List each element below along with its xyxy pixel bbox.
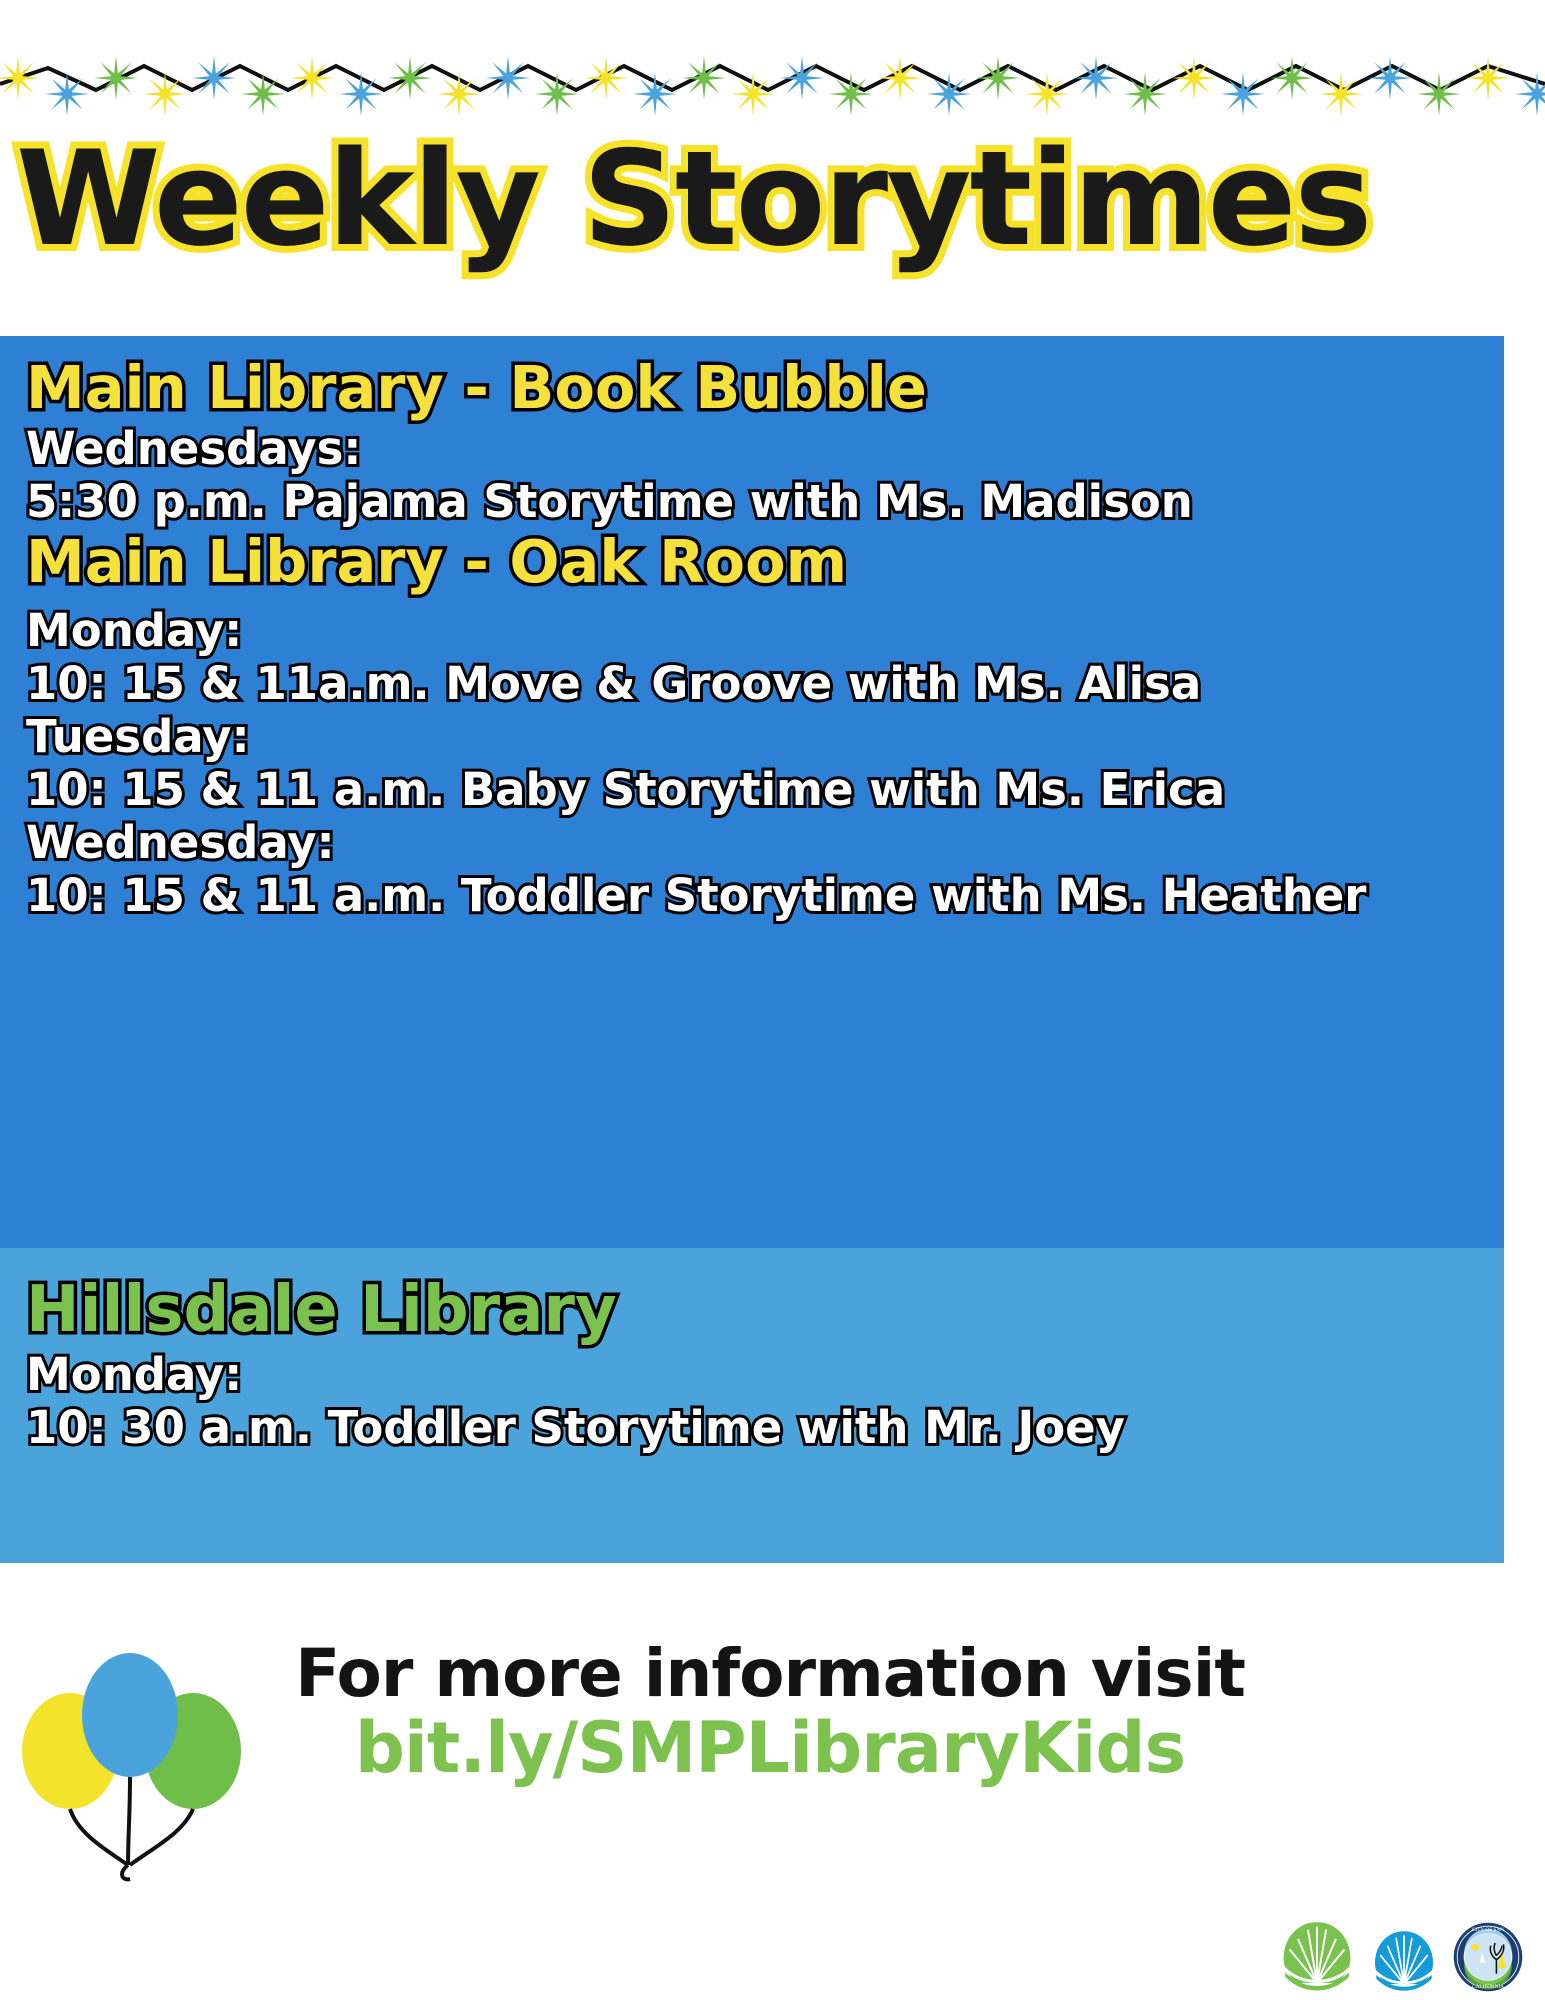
star-icon bbox=[1074, 56, 1118, 100]
star-icon bbox=[437, 72, 481, 116]
star-icon bbox=[290, 56, 334, 100]
star-icon bbox=[1025, 72, 1069, 116]
logo-row: CITY OF SAN CALIFORNIA bbox=[1279, 1916, 1523, 1992]
star-icon bbox=[731, 72, 775, 116]
star-icon bbox=[339, 72, 383, 116]
main-library-band: Main Library - Book Bubble Wednesdays: 5… bbox=[0, 336, 1504, 1248]
venue-heading: Main Library - Book Bubble bbox=[26, 354, 1478, 422]
star-icon bbox=[927, 72, 971, 116]
star-icon bbox=[976, 56, 1020, 100]
hillsdale-library-band: Hillsdale Library Monday: 10: 30 a.m. To… bbox=[0, 1248, 1504, 1563]
star-icon bbox=[1417, 72, 1461, 116]
section-main-library-oak-room: Main Library - Oak Room Monday: 10: 15 &… bbox=[26, 528, 1478, 922]
schedule-line: 10: 15 & 11 a.m. Toddler Storytime with … bbox=[26, 869, 1478, 922]
star-icon bbox=[584, 56, 628, 100]
day-label: Wednesdays: bbox=[26, 422, 1478, 475]
library-url-link[interactable]: bit.ly/SMPLibraryKids bbox=[225, 1711, 1315, 1787]
star-icon bbox=[1319, 72, 1363, 116]
footer-text-block: For more information visit bit.ly/SMPLib… bbox=[225, 1638, 1315, 1787]
day-label: Tuesday: bbox=[26, 710, 1478, 763]
poster-title-band: Weekly Storytimes bbox=[0, 118, 1545, 278]
star-icon bbox=[388, 56, 432, 100]
star-icon bbox=[535, 72, 579, 116]
star-icon bbox=[1221, 72, 1265, 116]
star-icon bbox=[143, 72, 187, 116]
venue-heading: Hillsdale Library bbox=[26, 1274, 1478, 1348]
star-icon bbox=[878, 56, 922, 100]
balloons-svg bbox=[18, 1633, 248, 1883]
spacer bbox=[26, 596, 1478, 604]
city-of-san-mateo-seal: CITY OF SAN CALIFORNIA bbox=[1453, 1922, 1523, 1992]
more-info-label: For more information visit bbox=[225, 1638, 1315, 1709]
star-icon bbox=[1466, 56, 1510, 100]
section-main-library-book-bubble: Main Library - Book Bubble Wednesdays: 5… bbox=[26, 354, 1478, 528]
venue-heading: Main Library - Oak Room bbox=[26, 528, 1478, 596]
seal-top-label: CITY OF SAN bbox=[1472, 1927, 1504, 1933]
day-label: Wednesday: bbox=[26, 816, 1478, 869]
schedule-line: 10: 15 & 11 a.m. Baby Storytime with Ms.… bbox=[26, 763, 1478, 816]
star-icon bbox=[829, 72, 873, 116]
star-icon bbox=[45, 72, 89, 116]
star-icon bbox=[0, 56, 40, 100]
star-icon bbox=[241, 72, 285, 116]
balloons-icon bbox=[18, 1633, 248, 1883]
day-label: Monday: bbox=[26, 604, 1478, 657]
schedule-line: 5:30 p.m. Pajama Storytime with Ms. Madi… bbox=[26, 475, 1478, 528]
star-icon bbox=[1123, 72, 1167, 116]
star-icon bbox=[1172, 56, 1216, 100]
day-label: Monday: bbox=[26, 1348, 1478, 1401]
page-title: Weekly Storytimes bbox=[16, 133, 1370, 264]
star-icon bbox=[633, 72, 677, 116]
star-icon bbox=[192, 56, 236, 100]
star-icon bbox=[682, 56, 726, 100]
section-hillsdale-library: Hillsdale Library Monday: 10: 30 a.m. To… bbox=[26, 1274, 1478, 1454]
green-shell-logo bbox=[1279, 1916, 1355, 1992]
star-icon bbox=[94, 56, 138, 100]
seal-bottom-label: CALIFORNIA bbox=[1472, 1984, 1504, 1990]
footer: For more information visit bit.ly/SMPLib… bbox=[0, 1563, 1545, 2000]
star-icon bbox=[780, 56, 824, 100]
schedule-line: 10: 30 a.m. Toddler Storytime with Mr. J… bbox=[26, 1401, 1478, 1454]
blue-shell-logo bbox=[1371, 1926, 1437, 1992]
star-icon bbox=[486, 56, 530, 100]
star-icon bbox=[1270, 56, 1314, 100]
schedule-line: 10: 15 & 11a.m. Move & Groove with Ms. A… bbox=[26, 657, 1478, 710]
star-garland bbox=[0, 38, 1545, 128]
star-icon bbox=[1368, 56, 1412, 100]
star-garland-svg bbox=[0, 38, 1545, 128]
